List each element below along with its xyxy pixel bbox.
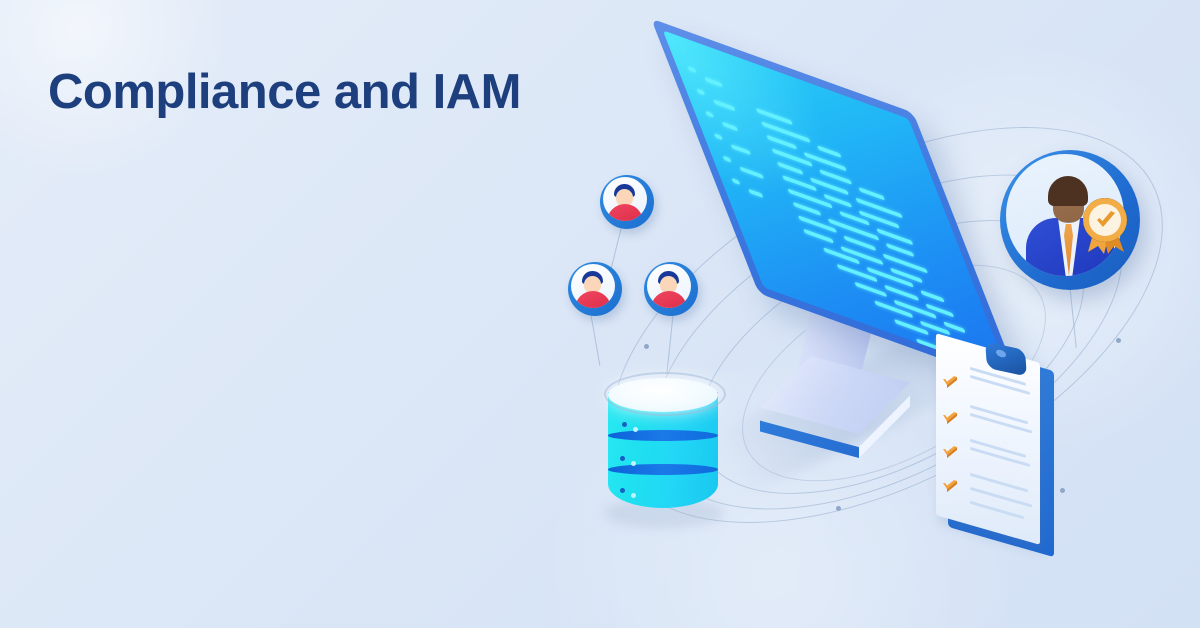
avatar-face bbox=[603, 177, 647, 221]
database-top-ring bbox=[604, 372, 726, 416]
database-dot-1 bbox=[622, 422, 627, 427]
database-dot-5 bbox=[620, 488, 625, 493]
avatar-face bbox=[571, 264, 615, 308]
user-avatar-2 bbox=[568, 262, 622, 316]
database-cylinder bbox=[600, 370, 740, 540]
database-band-2 bbox=[608, 464, 718, 475]
avatar-body bbox=[607, 204, 643, 221]
verified-badge-icon bbox=[1078, 194, 1134, 256]
orbit-node-3 bbox=[836, 506, 841, 511]
user-avatar-1 bbox=[600, 175, 654, 229]
certified-user-avatar bbox=[1000, 150, 1140, 290]
database-dot-2 bbox=[633, 427, 638, 432]
user-avatar-3 bbox=[644, 262, 698, 316]
avatar-body bbox=[651, 291, 687, 308]
compliance-iam-illustration bbox=[560, 60, 1200, 600]
avatar-body bbox=[575, 291, 611, 308]
page-title: Compliance and IAM bbox=[48, 66, 521, 120]
database-dot-4 bbox=[631, 461, 636, 466]
banner-root: Compliance and IAM bbox=[0, 0, 1200, 628]
orbit-node-2 bbox=[1116, 338, 1121, 343]
database-dot-3 bbox=[620, 456, 625, 461]
database-band-1 bbox=[608, 430, 718, 441]
database-dot-6 bbox=[631, 493, 636, 498]
avatar-face bbox=[647, 264, 691, 308]
compliance-checklist-clipboard bbox=[930, 348, 1070, 558]
orbit-node-4 bbox=[644, 344, 649, 349]
